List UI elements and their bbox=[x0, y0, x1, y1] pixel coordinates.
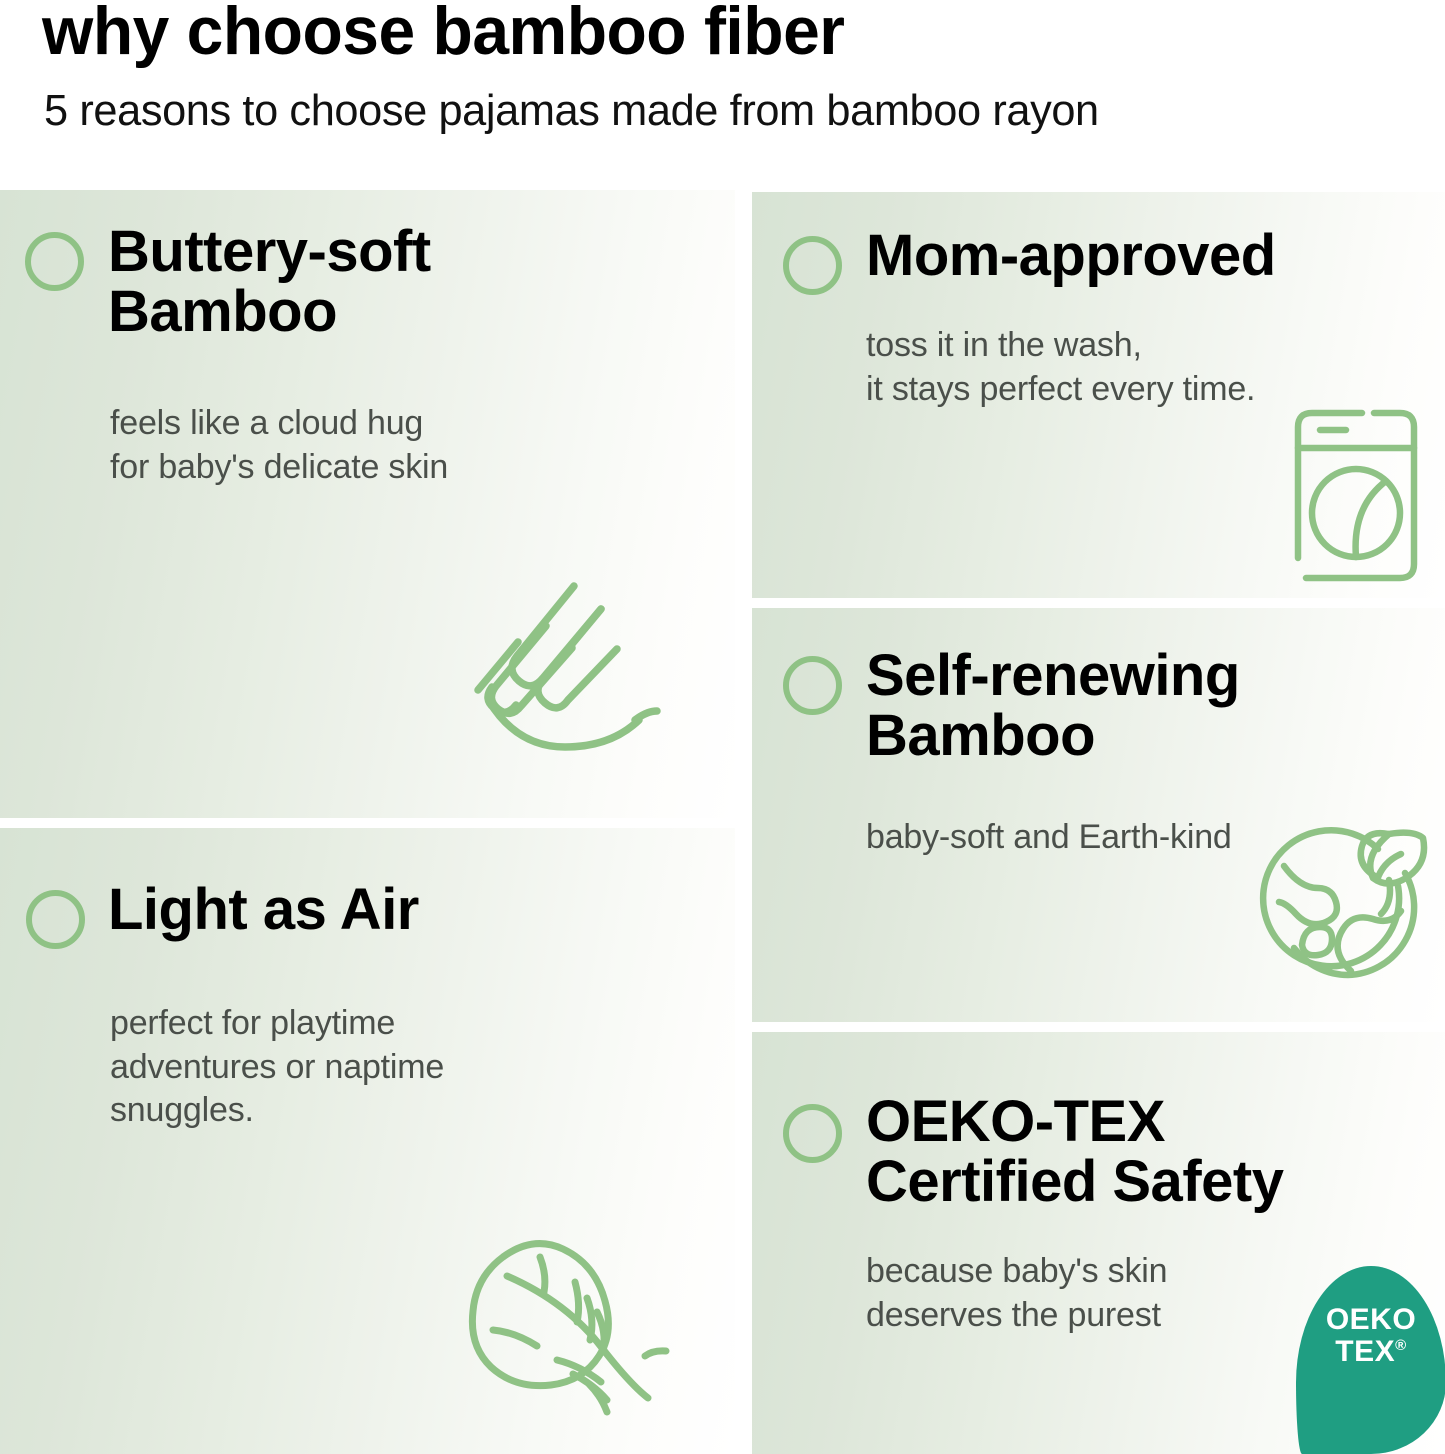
oeko-tex-badge-line2-text: TEX bbox=[1335, 1335, 1395, 1368]
card-subtext-buttery-soft-bamboo: feels like a cloud hug for baby's delica… bbox=[110, 402, 448, 489]
oeko-tex-badge-line1: OEKO bbox=[1326, 1304, 1416, 1336]
circle-bullet-icon bbox=[783, 656, 842, 715]
card-heading-mom-approved: Mom-approved bbox=[866, 226, 1276, 286]
feather-icon bbox=[465, 1232, 700, 1427]
circle-bullet-icon bbox=[25, 232, 84, 291]
oeko-tex-badge: OEKO TEX® bbox=[1296, 1266, 1445, 1454]
circle-bullet-icon bbox=[26, 890, 85, 949]
oeko-tex-badge-shape: OEKO TEX® bbox=[1296, 1266, 1445, 1454]
page-title: why choose bamboo fiber bbox=[42, 0, 844, 67]
card-heading-oeko-tex-certified-safety: OEKO-TEX Certified Safety bbox=[866, 1092, 1283, 1211]
card-subtext-oeko-tex-certified-safety: because baby's skin deserves the purest bbox=[866, 1250, 1167, 1337]
washing-machine-icon bbox=[1282, 408, 1430, 584]
page-subtitle: 5 reasons to choose pajamas made from ba… bbox=[44, 86, 1099, 137]
card-subtext-mom-approved: toss it in the wash, it stays perfect ev… bbox=[866, 324, 1255, 411]
circle-bullet-icon bbox=[783, 1104, 842, 1163]
card-subtext-light-as-air: perfect for playtime adventures or napti… bbox=[110, 1002, 444, 1133]
card-heading-light-as-air: Light as Air bbox=[108, 880, 419, 940]
page-header: why choose bamboo fiber 5 reasons to cho… bbox=[0, 0, 1445, 190]
card-subtext-self-renewing-bamboo: baby-soft and Earth-kind bbox=[866, 816, 1232, 860]
earth-leaf-icon bbox=[1258, 816, 1438, 1002]
oeko-tex-badge-line2: TEX® bbox=[1335, 1336, 1406, 1368]
hand-fabric-softness-icon bbox=[470, 582, 700, 767]
circle-bullet-icon bbox=[783, 236, 842, 295]
card-heading-self-renewing-bamboo: Self-renewing Bamboo bbox=[866, 646, 1240, 765]
card-heading-buttery-soft-bamboo: Buttery-soft Bamboo bbox=[108, 222, 431, 341]
registered-mark-icon: ® bbox=[1395, 1337, 1407, 1354]
